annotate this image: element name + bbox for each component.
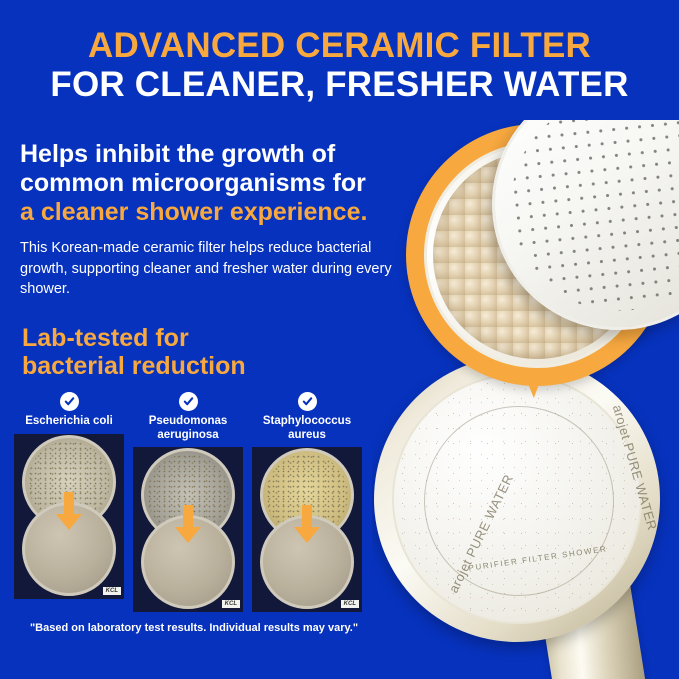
bacteria-name: Staphylococcus aureus [252,415,362,442]
lab-title-line-2: bacterial reduction [22,353,352,381]
subheadline-line-1: Helps inhibit the growth of [20,140,430,169]
bacteria-column-pseudomonas-aeruginosa: Pseudomonas aeruginosa KCL [133,392,243,612]
emboss-ring [424,406,614,596]
bacteria-test-row: Escherichia coli KCL Pseudomonas aerugin… [14,392,362,612]
down-arrow-icon [54,492,84,532]
center-emboss: PURIFIER FILTER SHOWER [468,544,608,572]
kcl-lab-tag: KCL [103,587,121,595]
check-icon [179,392,198,411]
shower-handle [525,494,647,679]
subheadline-line-2: common microorganisms for [20,169,430,198]
orange-highlight-ring [406,124,668,386]
kcl-lab-tag: KCL [222,600,240,608]
bacteria-column-escherichia-coli: Escherichia coli KCL [14,392,124,612]
perforated-cap [480,120,679,342]
check-icon [298,392,317,411]
subheadline: Helps inhibit the growth of common micro… [20,140,430,227]
orange-pointer-tail [512,344,554,398]
down-arrow-icon [173,505,203,545]
down-arrow-icon [292,505,322,545]
body-paragraph: This Korean-made ceramic filter helps re… [20,238,410,300]
shower-face-inner: arojet PURE WATER arojet PURE WATER PURI… [392,374,642,624]
headline-line-1: ADVANCED CERAMIC FILTER [0,26,679,65]
speckle-texture [394,376,640,622]
ceramic-bead-cartridge [424,142,650,368]
bacteria-name: Escherichia coli [14,415,124,429]
lab-title-line-1: Lab-tested for [22,325,352,353]
brand-emboss-right: arojet PURE WATER [610,403,660,532]
cap-nozzle-holes [500,120,679,322]
product-infographic: arojet PURE WATER arojet PURE WATER PURI… [0,0,679,679]
ceramic-beads [433,151,641,359]
petri-dish-panel: KCL [252,447,362,612]
petri-dish-panel: KCL [133,447,243,612]
lab-section-title: Lab-tested for bacterial reduction [22,325,352,380]
bacteria-column-staphylococcus-aureus: Staphylococcus aureus KCL [252,392,362,612]
kcl-lab-tag: KCL [341,600,359,608]
headline: ADVANCED CERAMIC FILTER FOR CLEANER, FRE… [0,26,679,104]
shower-face-plate: arojet PURE WATER arojet PURE WATER PURI… [374,356,660,642]
bacteria-name: Pseudomonas aeruginosa [133,415,243,442]
brand-emboss-left: arojet PURE WATER [446,472,516,595]
check-icon [60,392,79,411]
petri-dish-panel: KCL [14,434,124,599]
headline-line-2: FOR CLEANER, FRESHER WATER [0,65,679,104]
disclaimer-text: "Based on laboratory test results. Indiv… [14,622,374,634]
subheadline-line-3-accent: a cleaner shower experience. [20,198,430,227]
